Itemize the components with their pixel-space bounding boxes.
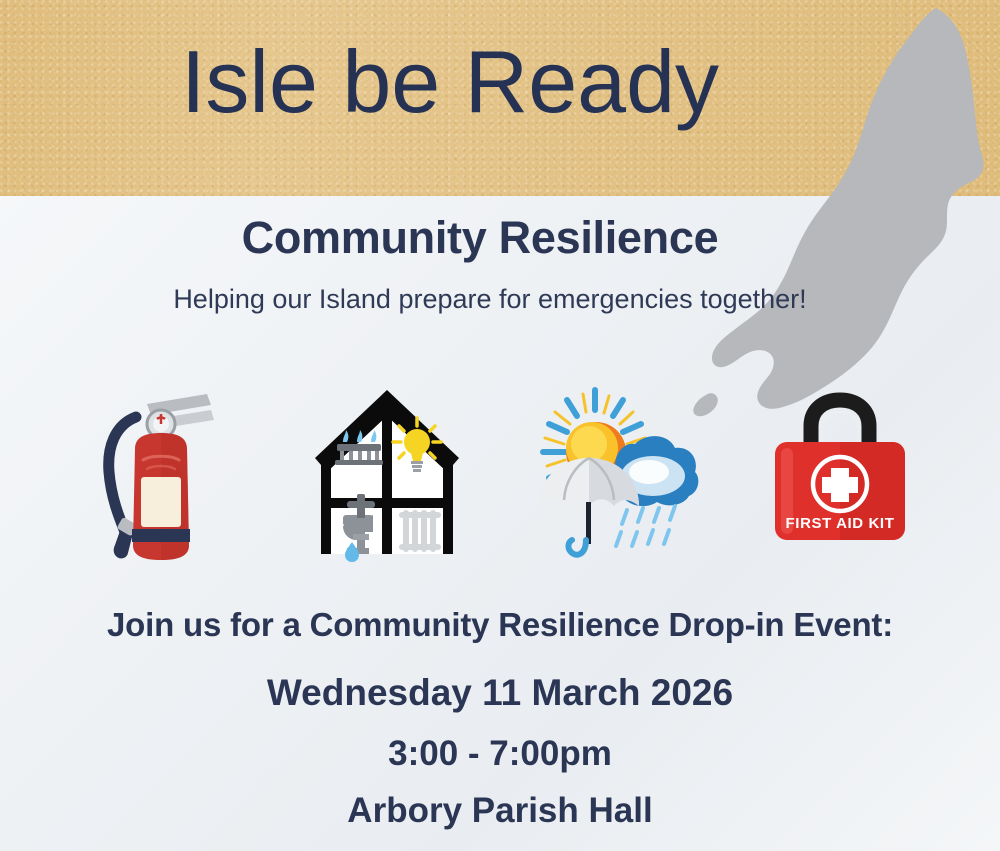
poster-title: Isle be Ready [0, 36, 900, 128]
weather-icon [523, 382, 703, 562]
event-venue: Arbory Parish Hall [0, 791, 1000, 831]
icon-cell-first-aid-kit: FIRST AID KIT [740, 372, 940, 572]
icon-cell-home-utilities [287, 372, 487, 572]
first-aid-kit-icon: FIRST AID KIT [765, 392, 915, 552]
headline: Community Resilience [0, 212, 960, 264]
tagline: Helping our Island prepare for emergenci… [0, 284, 980, 315]
umbrella-icon [539, 458, 639, 555]
raindrops-icon [616, 506, 675, 546]
event-date: Wednesday 11 March 2026 [0, 672, 1000, 714]
event-time: 3:00 - 7:00pm [0, 734, 1000, 774]
icon-cell-fire-extinguisher [60, 372, 260, 572]
icon-cell-weather [513, 372, 713, 572]
kit-label: FIRST AID KIT [786, 515, 895, 532]
fire-extinguisher-icon [95, 377, 225, 567]
poster-canvas: Isle be Ready Community Resilience Helpi… [0, 0, 1000, 851]
home-utilities-icon [307, 382, 467, 562]
event-invitation: Join us for a Community Resilience Drop-… [0, 606, 1000, 644]
icon-row: FIRST AID KIT [60, 372, 940, 572]
